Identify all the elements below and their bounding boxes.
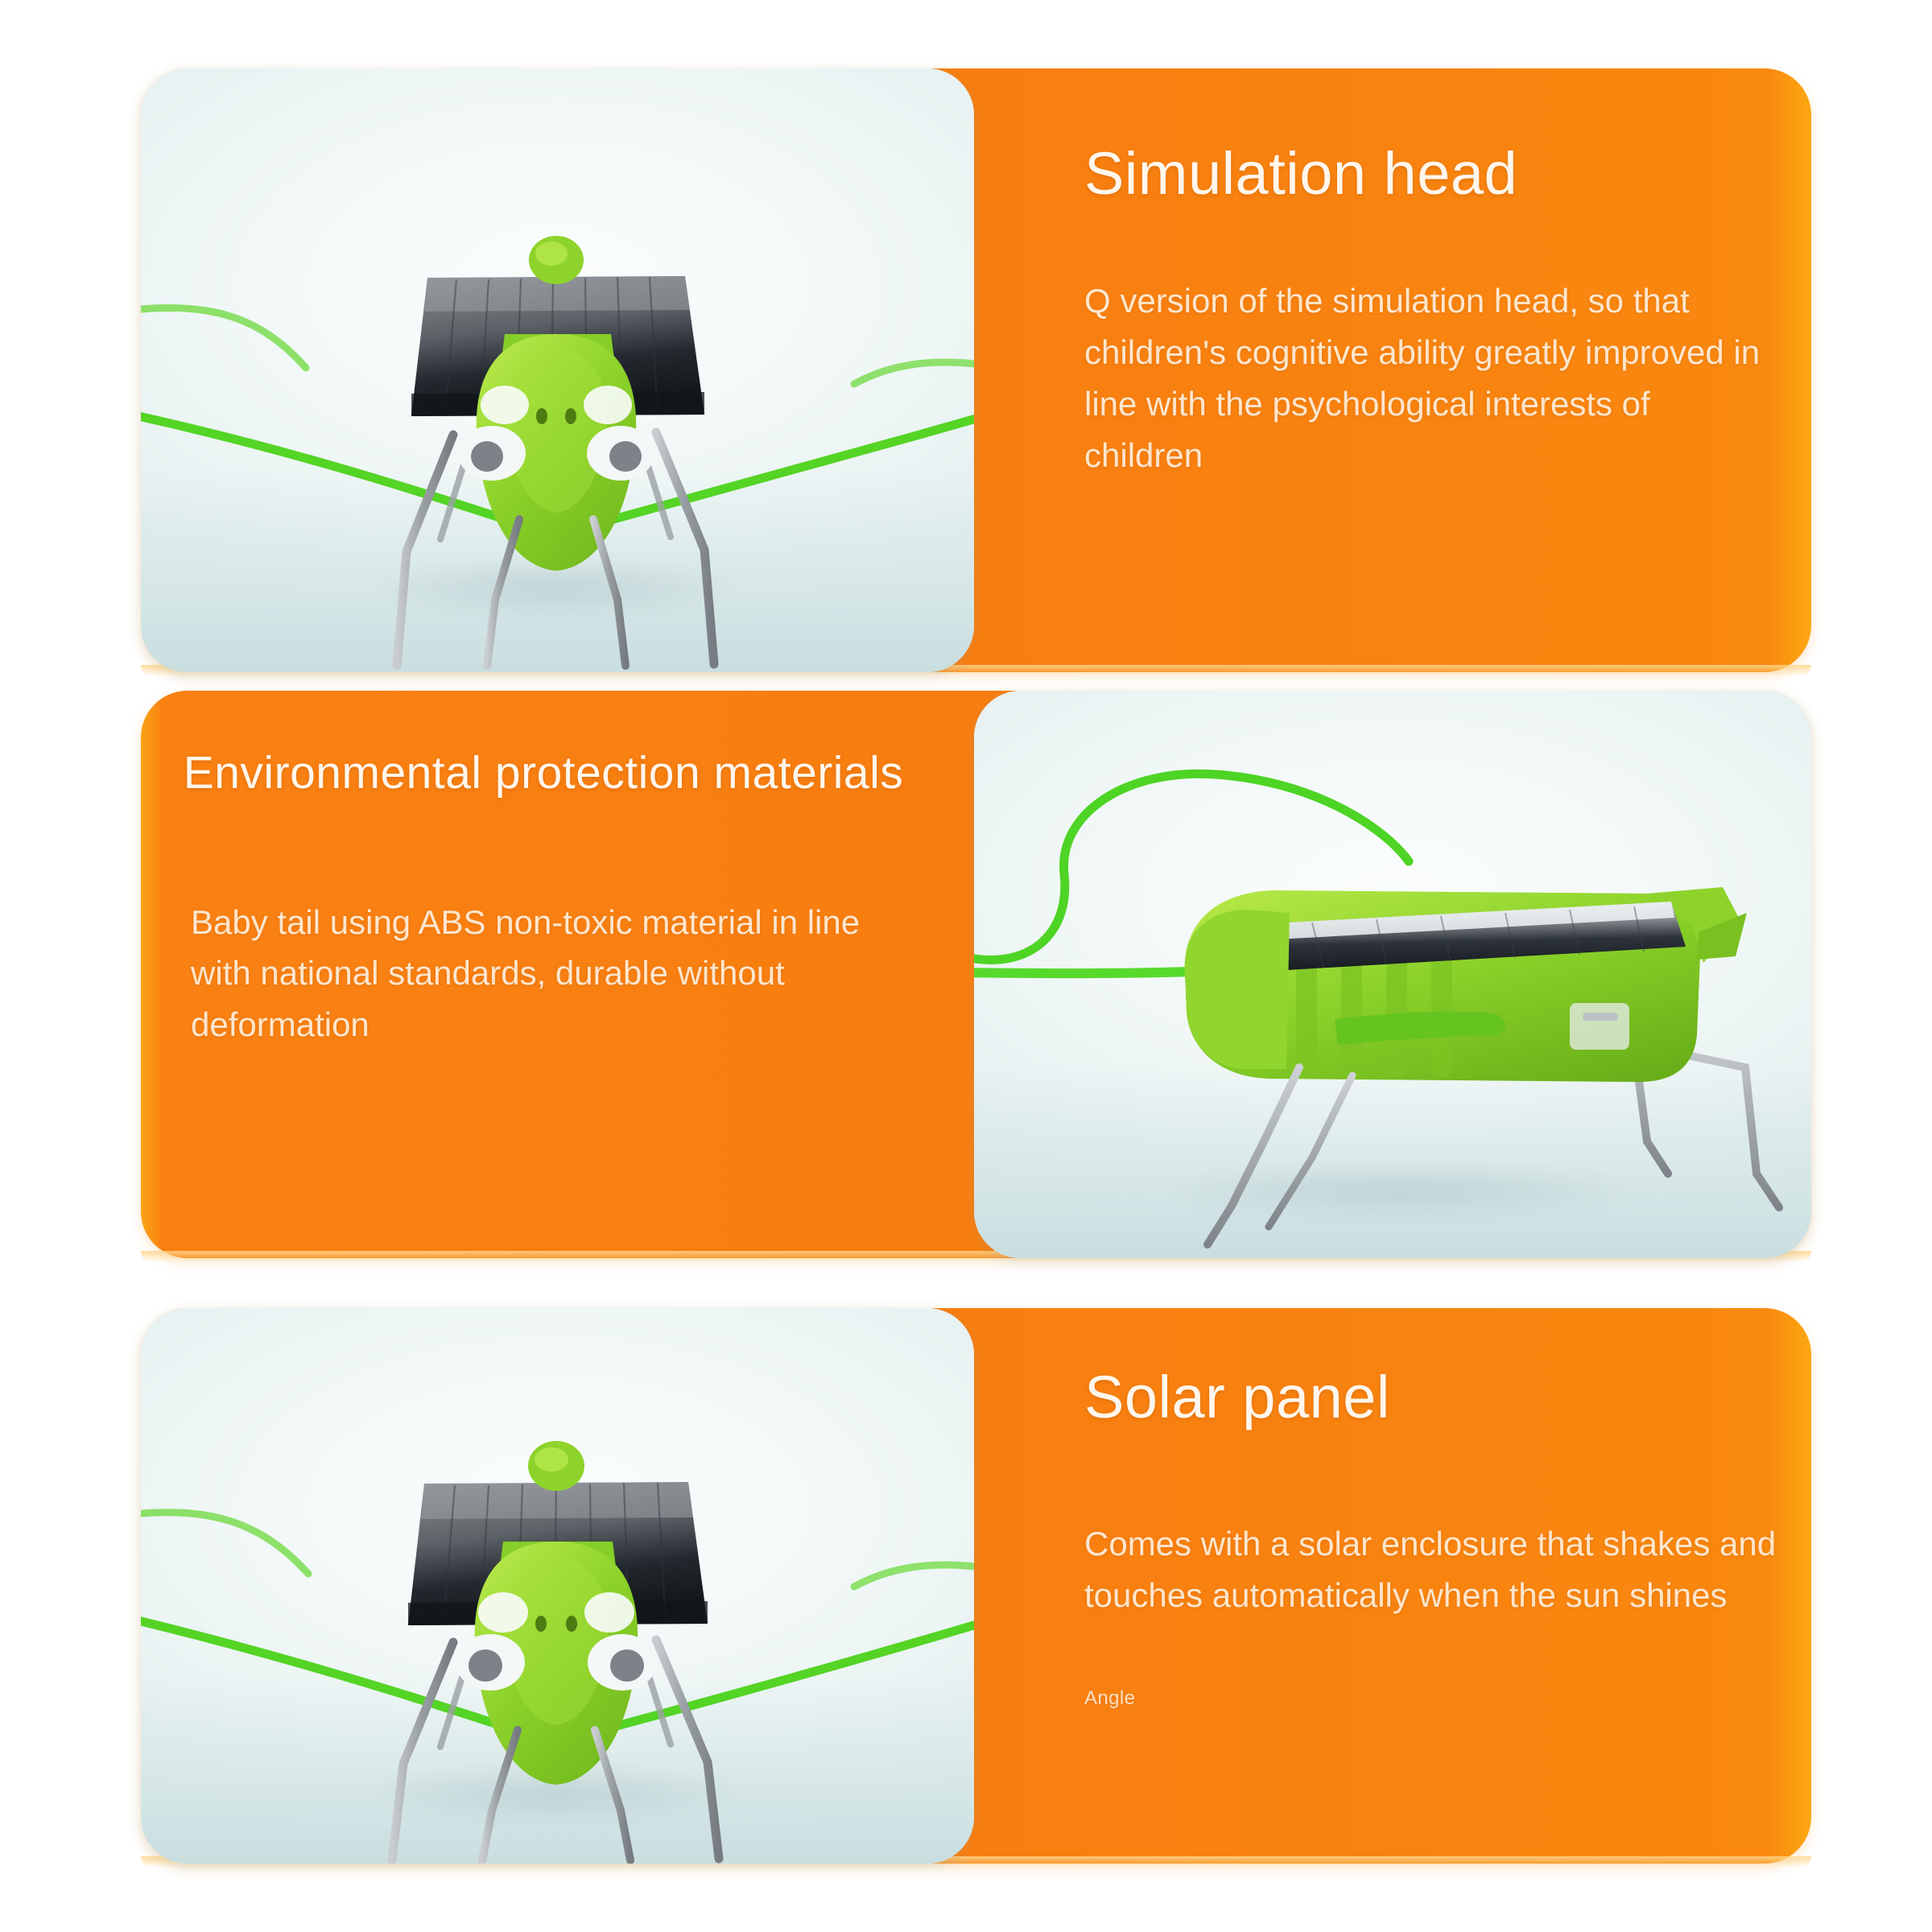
panel-text-block: Simulation head Q version of the simulat… xyxy=(1084,141,1777,481)
panel-text-block: Environmental protection materials Baby … xyxy=(173,745,914,1051)
panel-text-block: Solar panel Comes with a solar enclosure… xyxy=(1084,1364,1777,1710)
product-photo-card xyxy=(974,691,1811,1258)
panel-title: Solar panel xyxy=(1084,1364,1777,1430)
panel-title: Simulation head xyxy=(1084,141,1777,206)
feature-panel-environmental-protection-materials: Environmental protection materials Baby … xyxy=(141,691,1811,1258)
panel-body: Comes with a solar enclosure that shakes… xyxy=(1084,1518,1777,1621)
angle-note: Angle xyxy=(1084,1687,1777,1710)
product-photo-card xyxy=(141,68,974,672)
feature-panel-solar-panel: Solar panel Comes with a solar enclosure… xyxy=(141,1308,1811,1864)
panel-body: Baby tail using ABS non-toxic material i… xyxy=(173,897,914,1051)
product-photo-card xyxy=(141,1308,974,1864)
panel-title: Environmental protection materials xyxy=(173,745,914,802)
grasshopper-front-illustration xyxy=(141,1308,974,1864)
product-photo-side-view xyxy=(974,691,1811,1258)
product-feature-infographic: Simulation head Q version of the simulat… xyxy=(0,0,1932,1932)
product-photo-front-view xyxy=(141,1308,974,1864)
grasshopper-side-illustration xyxy=(974,691,1811,1258)
grasshopper-front-illustration xyxy=(141,68,974,672)
panel-body: Q version of the simulation head, so tha… xyxy=(1084,275,1777,481)
feature-panel-simulation-head: Simulation head Q version of the simulat… xyxy=(141,68,1811,672)
product-photo-front-view xyxy=(141,68,974,672)
